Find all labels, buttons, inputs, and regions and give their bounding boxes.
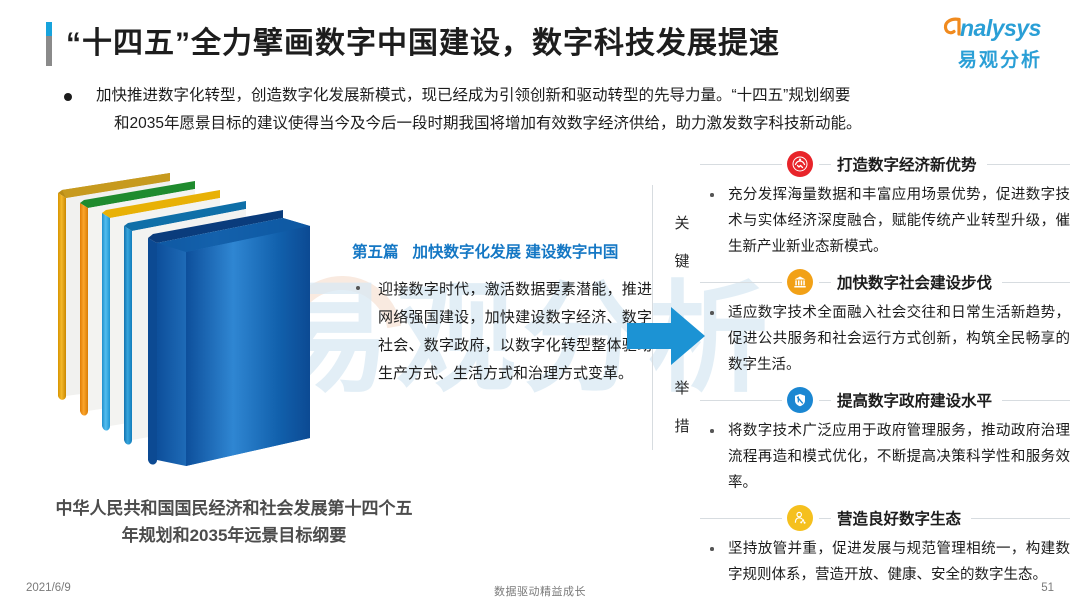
measure-rule-right bbox=[987, 164, 1070, 165]
measure-rule-mid bbox=[819, 282, 831, 283]
measure-body: 将数字技术广泛应用于政府管理服务，推动政府治理流程再造和模式优化，不断提高决策科… bbox=[700, 418, 1070, 496]
measure-rule-left bbox=[700, 282, 782, 283]
measure-rule-left bbox=[700, 518, 782, 519]
brand-logo: nalysys 易观分析 bbox=[934, 14, 1062, 72]
measure-rule-right bbox=[971, 518, 1070, 519]
footer-tagline: 数据驱动精益成长 bbox=[0, 583, 1080, 599]
vertical-label-char-1: 关 bbox=[670, 212, 694, 233]
caption-line-2: 年规划和2035年远景目标纲要 bbox=[24, 522, 444, 549]
middle-column: 第五篇加快数字化发展 建设数字中国 迎接数字时代，激活数据要素潜能，推进网络强国… bbox=[352, 240, 652, 388]
lead-line-1: 加快推进数字化转型，创造数字化发展新模式，现已经成为引领创新和驱动转型的先导力量… bbox=[96, 87, 850, 104]
slide-root: 易观分析 “十四五”全力擘画数字中国建设，数字科技发展提速 nalysys 易观… bbox=[0, 0, 1080, 608]
measure-rule-right bbox=[1002, 282, 1070, 283]
shield-icon bbox=[787, 387, 813, 413]
measure-title: 打造数字经济新优势 bbox=[837, 153, 977, 175]
measure-rule-mid bbox=[819, 164, 831, 165]
measure-item: 加快数字社会建设步伐 适应数字技术全面融入社会交往和日常生活新趋势，促进公共服务… bbox=[700, 266, 1070, 378]
middle-body: 迎接数字时代，激活数据要素潜能，推进网络强国建设，加快建设数字经济、数字社会、数… bbox=[352, 276, 652, 388]
measure-body: 充分发挥海量数据和丰富应用场景优势，促进数字技术与实体经济深度融合，赋能传统产业… bbox=[700, 182, 1070, 260]
middle-title: 第五篇加快数字化发展 建设数字中国 bbox=[352, 240, 652, 262]
measure-body-text: 充分发挥海量数据和丰富应用场景优势，促进数字技术与实体经济深度融合，赋能传统产业… bbox=[728, 182, 1070, 260]
caption-line-1: 中华人民共和国国民经济和社会发展第十四个五 bbox=[24, 495, 444, 522]
measure-header: 营造良好数字生态 bbox=[700, 502, 1070, 534]
handshake-badge-icon bbox=[787, 151, 813, 177]
measure-header: 加快数字社会建设步伐 bbox=[700, 266, 1070, 298]
slide-footer: 2021/6/9 数据驱动精益成长 51 bbox=[0, 574, 1080, 608]
measure-rule-mid bbox=[819, 400, 831, 401]
measure-title: 营造良好数字生态 bbox=[837, 507, 961, 529]
measure-rule-right bbox=[1002, 400, 1070, 401]
title-accent-bar bbox=[46, 22, 52, 66]
measure-item: 打造数字经济新优势 充分发挥海量数据和丰富应用场景优势，促进数字技术与实体经济深… bbox=[700, 148, 1070, 260]
measure-body-text: 适应数字技术全面融入社会交往和日常生活新趋势，促进公共服务和社会运行方式创新，构… bbox=[728, 300, 1070, 378]
middle-bullet-icon bbox=[356, 286, 360, 290]
person-network-icon bbox=[787, 505, 813, 531]
bank-building-icon bbox=[787, 269, 813, 295]
measure-title: 加快数字社会建设步伐 bbox=[837, 271, 992, 293]
measure-header: 提高数字政府建设水平 bbox=[700, 384, 1070, 416]
logo-chinese-name: 易观分析 bbox=[958, 45, 1042, 72]
lead-paragraph: 加快推进数字化转型，创造数字化发展新模式，现已经成为引领创新和驱动转型的先导力量… bbox=[64, 82, 1014, 138]
measure-body: 适应数字技术全面融入社会交往和日常生活新趋势，促进公共服务和社会运行方式创新，构… bbox=[700, 300, 1070, 378]
lead-bullet-icon bbox=[64, 93, 72, 101]
lead-text: 加快推进数字化转型，创造数字化发展新模式，现已经成为引领创新和驱动转型的先导力量… bbox=[96, 82, 1014, 138]
logo-wordmark-row: nalysys bbox=[934, 14, 1062, 44]
measure-rule-left bbox=[700, 400, 782, 401]
logo-wordmark: nalysys bbox=[960, 15, 1041, 42]
right-arrow-icon bbox=[627, 305, 705, 367]
page-title: “十四五”全力擘画数字中国建设，数字科技发展提速 bbox=[66, 18, 780, 62]
vertical-label-char-4: 措 bbox=[670, 415, 694, 436]
footer-page-number: 51 bbox=[1041, 582, 1054, 594]
lead-line-2: 和2035年愿景目标的建议使得当今及今后一段时期我国将增加有效数字经济供给，助力… bbox=[96, 110, 1014, 138]
books-illustration bbox=[40, 168, 340, 493]
measure-body-text: 将数字技术广泛应用于政府管理服务，推动政府治理流程再造和模式优化，不断提高决策科… bbox=[728, 418, 1070, 496]
middle-body-text: 迎接数字时代，激活数据要素潜能，推进网络强国建设，加快建设数字经济、数字社会、数… bbox=[378, 276, 652, 388]
measure-rule-mid bbox=[819, 518, 831, 519]
measure-title: 提高数字政府建设水平 bbox=[837, 389, 992, 411]
middle-title-main: 加快数字化发展 建设数字中国 bbox=[413, 244, 619, 261]
measure-header: 打造数字经济新优势 bbox=[700, 148, 1070, 180]
measure-bullet-icon bbox=[710, 193, 714, 197]
vertical-label-char-2: 键 bbox=[670, 250, 694, 271]
illustration-caption: 中华人民共和国国民经济和社会发展第十四个五 年规划和2035年远景目标纲要 bbox=[24, 495, 444, 549]
middle-title-prefix: 第五篇 bbox=[352, 244, 399, 261]
measure-bullet-icon bbox=[710, 547, 714, 551]
measures-panel: 打造数字经济新优势 充分发挥海量数据和丰富应用场景优势，促进数字技术与实体经济深… bbox=[700, 148, 1070, 594]
measure-item: 提高数字政府建设水平 将数字技术广泛应用于政府管理服务，推动政府治理流程再造和模… bbox=[700, 384, 1070, 496]
vertical-label-char-3: 举 bbox=[670, 377, 694, 398]
measure-bullet-icon bbox=[710, 429, 714, 433]
measure-bullet-icon bbox=[710, 311, 714, 315]
measure-rule-left bbox=[700, 164, 782, 165]
